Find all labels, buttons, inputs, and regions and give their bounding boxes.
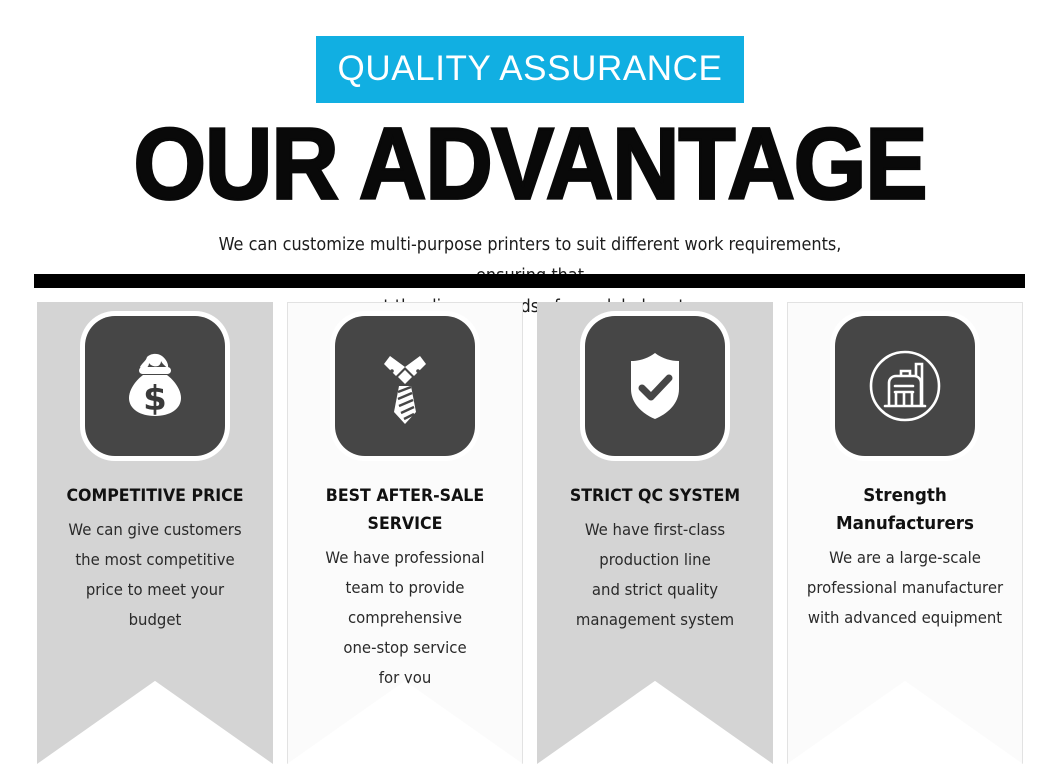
card-body-line: with advanced equipment [805,603,1006,633]
card-body-line: management system [555,605,756,635]
card-body: We have professional team to provide com… [295,543,514,693]
card-title: BEST AFTER-SALE SERVICE [295,482,514,538]
card-body: We can give customers the most competiti… [45,515,264,635]
card-body: We are a large-scale professional manufa… [795,543,1014,633]
page-title: OUR ADVANTAGE [0,117,1060,212]
card-title: COMPETITIVE PRICE [45,482,264,510]
card-body: We have first-class production line and … [545,515,764,635]
shield-check-icon [613,344,697,428]
factory-circle-icon [863,344,947,428]
icon-tile [585,316,725,456]
card-body-line: professional manufacturer [805,573,1006,603]
card-body-line: for you [305,663,506,693]
card-title: STRICT QC SYSTEM [545,482,764,510]
necktie-icon [363,344,447,428]
icon-tile [835,316,975,456]
advantage-card-qc-system[interactable]: STRICT QC SYSTEM We have first-class pro… [537,302,773,764]
card-body-line: one-stop service [305,633,506,663]
section-divider [34,274,1025,288]
card-body-line: the most competitive [55,545,256,575]
card-body-line: team to provide [305,573,506,603]
eyebrow-banner-wrap: QUALITY ASSURANCE [0,36,1060,103]
card-body-line: We are a large-scale [805,543,1006,573]
card-body-line: and strict quality [555,575,756,605]
card-body-line: We have professional [305,543,506,573]
svg-text:$: $ [143,379,167,419]
card-body-line: budget [55,605,256,635]
advantage-card-row: $ COMPETITIVE PRICE We can give customer… [0,302,1060,775]
advantage-card-competitive-price[interactable]: $ COMPETITIVE PRICE We can give customer… [37,302,273,764]
card-title: Strength Manufacturers [795,482,1014,538]
card-body-line: We can give customers [55,515,256,545]
card-body-line: production line [555,545,756,575]
advantage-card-strength-manufacturers[interactable]: Strength Manufacturers We are a large-sc… [787,302,1023,764]
advantage-card-after-sale-service[interactable]: BEST AFTER-SALE SERVICE We have professi… [287,302,523,764]
icon-tile [335,316,475,456]
card-body-line: comprehensive [305,603,506,633]
money-bag-icon: $ [113,344,197,428]
icon-tile: $ [85,316,225,456]
card-body-line: We have first-class [555,515,756,545]
eyebrow-banner: QUALITY ASSURANCE [316,36,745,103]
card-body-line: price to meet your [55,575,256,605]
